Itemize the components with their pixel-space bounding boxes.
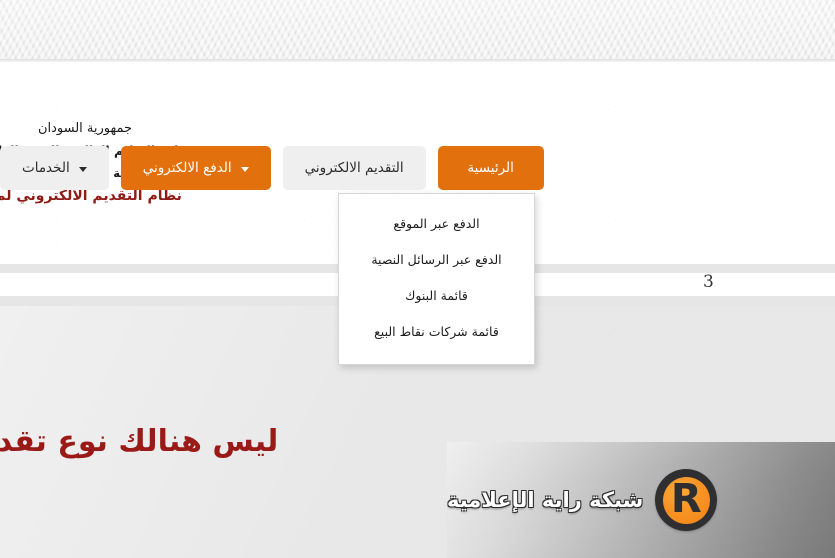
counter-value: 3: [703, 272, 714, 292]
header-country: جمهورية السودان: [0, 118, 200, 140]
chevron-down-icon: [79, 167, 87, 172]
media-network-watermark: R شبكة راية الإعلامية: [447, 442, 835, 558]
nav-item-home-label: الرئيسية: [467, 146, 514, 190]
electronic-payment-dropdown-menu: الدفع عبر الموقع الدفع عبر الرسائل النصي…: [338, 193, 535, 365]
dropdown-item-pay-sms[interactable]: الدفع عبر الرسائل النصية: [339, 242, 534, 278]
dropdown-item-pos-companies-list[interactable]: قائمة شركات نقاط البيع: [339, 314, 534, 350]
dropdown-item-pay-online[interactable]: الدفع عبر الموقع: [339, 206, 534, 242]
chevron-down-icon: [241, 167, 249, 172]
watermark-label: شبكة راية الإعلامية: [447, 488, 643, 512]
nav-item-electronic-payment[interactable]: الدفع الالكتروني: [121, 146, 271, 190]
watermark-inner: R شبكة راية الإعلامية: [447, 442, 835, 558]
nav-item-electronic-application-label: التقديم الالكتروني: [305, 146, 404, 190]
raya-logo-letter: R: [671, 479, 702, 519]
main-navigation: الرئيسية التقديم الالكتروني الدفع الالكت…: [0, 146, 835, 192]
nav-item-services[interactable]: الخدمات: [0, 146, 109, 190]
raya-logo-disc: R: [663, 477, 710, 524]
nav-item-services-label: الخدمات: [22, 146, 70, 190]
browser-page: جمهورية السودان وزارة التعليم العالي وال…: [0, 0, 835, 558]
top-texture-band: [0, 0, 835, 61]
nav-item-home[interactable]: الرئيسية: [438, 146, 544, 190]
nav-item-electronic-payment-label: الدفع الالكتروني: [143, 146, 232, 190]
raya-logo-icon: R: [655, 469, 717, 531]
nav-item-electronic-application[interactable]: التقديم الالكتروني: [283, 146, 426, 190]
dropdown-item-banks-list[interactable]: قائمة البنوك: [339, 278, 534, 314]
